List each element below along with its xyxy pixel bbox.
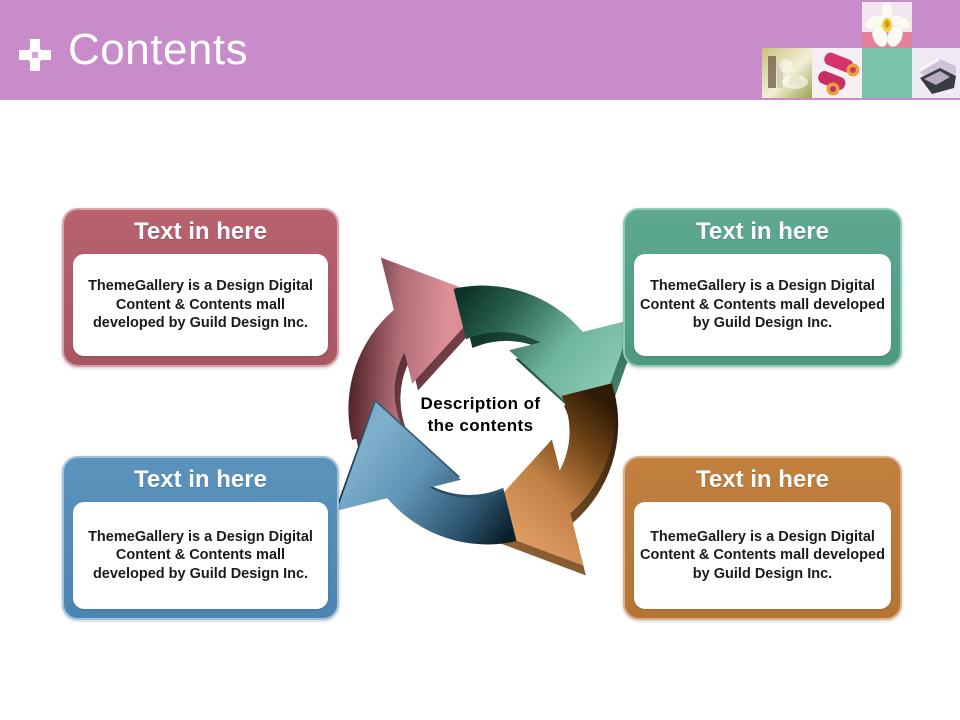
compact-thumbnail xyxy=(912,48,960,98)
center-description-line1: Description of xyxy=(368,393,593,415)
content-box-bottom-right[interactable]: Text in here ThemeGallery is a Design Di… xyxy=(623,456,902,620)
content-box-card: ThemeGallery is a Design Digital Content… xyxy=(73,254,328,356)
content-box-heading: Text in here xyxy=(625,458,900,502)
flower-thumbnail xyxy=(862,2,912,48)
content-box-heading: Text in here xyxy=(64,458,337,502)
content-box-bottom-left[interactable]: Text in here ThemeGallery is a Design Di… xyxy=(62,456,339,620)
content-box-heading: Text in here xyxy=(625,210,900,254)
content-box-top-right[interactable]: Text in here ThemeGallery is a Design Di… xyxy=(623,208,902,367)
center-description-line2: the contents xyxy=(368,415,593,437)
content-box-card: ThemeGallery is a Design Digital Content… xyxy=(73,502,328,609)
content-box-body: ThemeGallery is a Design Digital Content… xyxy=(634,277,891,332)
content-box-body: ThemeGallery is a Design Digital Content… xyxy=(73,277,328,332)
content-box-card: ThemeGallery is a Design Digital Content… xyxy=(634,502,891,609)
content-box-heading: Text in here xyxy=(64,210,337,254)
teal-swatch-thumbnail xyxy=(862,48,912,98)
slide-header: Contents xyxy=(0,0,960,100)
center-description: Description of the contents xyxy=(368,393,593,438)
content-box-card: ThemeGallery is a Design Digital Content… xyxy=(634,254,891,356)
perfume-thumbnail xyxy=(762,48,812,98)
content-box-top-left[interactable]: Text in here ThemeGallery is a Design Di… xyxy=(62,208,339,367)
content-box-body: ThemeGallery is a Design Digital Content… xyxy=(634,528,891,583)
slide-canvas: Contents xyxy=(0,0,960,720)
content-box-body: ThemeGallery is a Design Digital Content… xyxy=(73,528,328,583)
lipstick-thumbnail xyxy=(812,48,862,98)
thumbnail-strip xyxy=(0,0,960,100)
